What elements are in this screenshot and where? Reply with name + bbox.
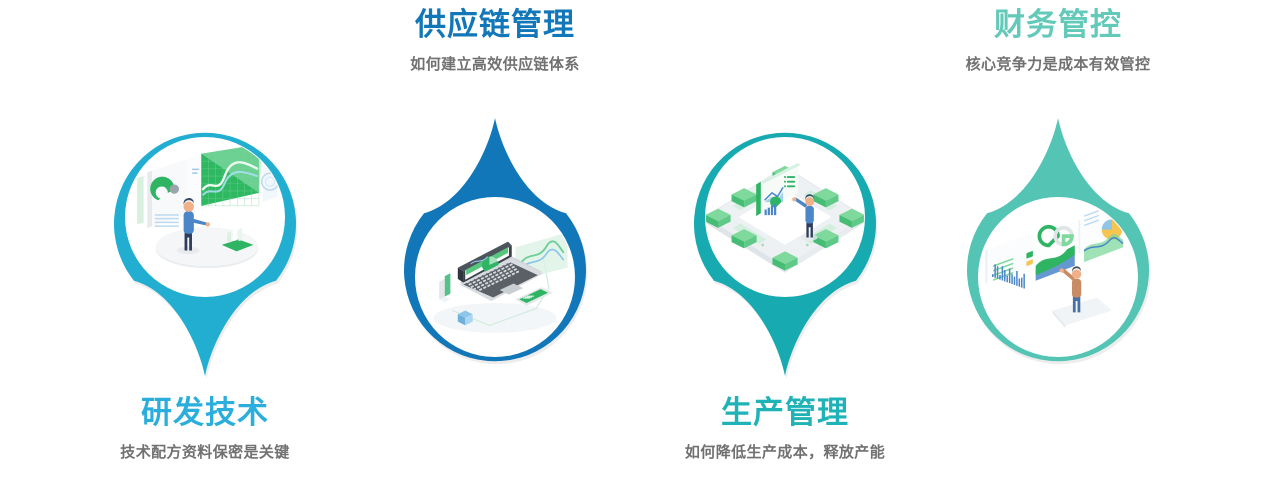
- pin-card-financial-control[interactable]: 财务管控核心竞争力是成本有效管控: [853, 0, 1263, 488]
- pin-inner-disc: [978, 197, 1138, 357]
- map-pin-icon: [404, 118, 586, 370]
- infographic-board: 研发技术技术配方资料保密是关键供应链管理如何建立高效供应链体系生产管理如何降低生…: [0, 0, 1263, 488]
- pin-inner-disc: [125, 137, 285, 297]
- map-pin-icon: [114, 124, 296, 376]
- map-pin-icon: [694, 124, 876, 376]
- pin-inner-disc: [415, 197, 575, 357]
- pin-text-block: 财务管控核心竞争力是成本有效管控: [853, 8, 1263, 74]
- map-pin-icon: [967, 118, 1149, 370]
- map-pin-marker[interactable]: [853, 118, 1263, 370]
- pin-subtitle: 核心竞争力是成本有效管控: [853, 56, 1263, 74]
- pin-inner-disc: [705, 137, 865, 297]
- pin-title: 财务管控: [853, 8, 1263, 43]
